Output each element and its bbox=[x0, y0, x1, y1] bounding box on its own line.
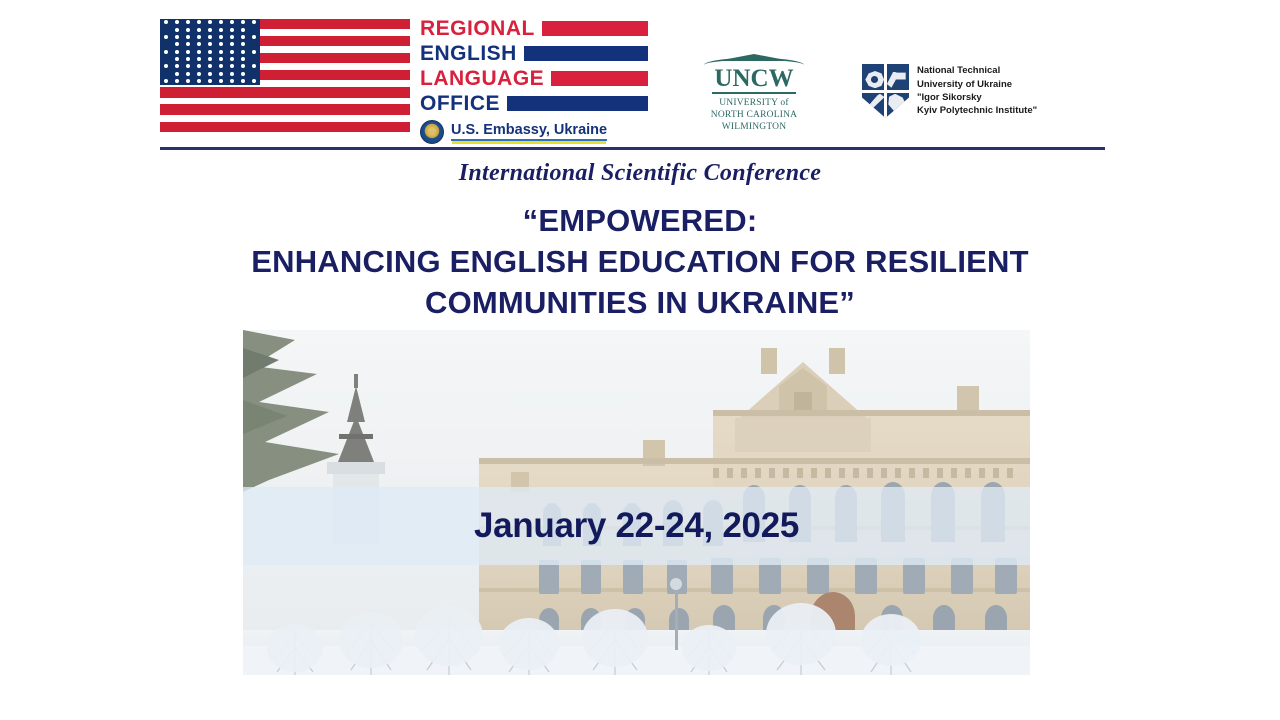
kpi-line-3: "Igor Sikorsky bbox=[917, 91, 1037, 104]
flag-stars bbox=[160, 19, 260, 85]
relo-bar-english bbox=[524, 46, 648, 61]
relo-word-english: ENGLISH bbox=[420, 43, 517, 64]
uncw-sub-line-2: NORTH CAROLINA bbox=[694, 109, 814, 121]
gear-icon bbox=[865, 71, 884, 88]
date-banner: January 22-24, 2025 bbox=[243, 487, 1030, 565]
kpi-logo: National Technical University of Ukraine… bbox=[862, 64, 1037, 118]
relo-bar-language bbox=[551, 71, 648, 86]
uncw-sub-line-1: UNIVERSITY of bbox=[694, 97, 814, 109]
kpi-line-2: University of Ukraine bbox=[917, 78, 1037, 91]
trident-icon bbox=[866, 94, 885, 111]
relo-line-language: LANGUAGE bbox=[420, 67, 648, 90]
mallet-icon bbox=[886, 94, 905, 111]
relo-word-regional: REGIONAL bbox=[420, 18, 535, 39]
uncw-wordmark: UNCW bbox=[712, 66, 795, 94]
conference-kicker: International Scientific Conference bbox=[0, 160, 1280, 187]
embassy-label: U.S. Embassy, Ukraine bbox=[451, 123, 607, 142]
title-line-3: COMMUNITIES IN UKRAINE” bbox=[150, 282, 1130, 323]
title-line-1: “EMPOWERED: bbox=[150, 200, 1130, 241]
relo-bar-regional bbox=[542, 21, 648, 36]
kpi-shield-icon bbox=[862, 64, 909, 118]
us-great-seal-icon bbox=[420, 120, 444, 144]
relo-line-regional: REGIONAL bbox=[420, 17, 648, 40]
page-title: “EMPOWERED: ENHANCING ENGLISH EDUCATION … bbox=[150, 200, 1130, 324]
relo-bar-office bbox=[507, 96, 648, 111]
header-divider bbox=[160, 147, 1105, 150]
portico-icon bbox=[704, 54, 804, 65]
conference-slide: REGIONAL ENGLISH LANGUAGE OFFICE bbox=[0, 0, 1280, 720]
axe-icon bbox=[887, 72, 906, 89]
relo-wordmark: REGIONAL ENGLISH LANGUAGE OFFICE bbox=[420, 16, 648, 144]
relo-word-language: LANGUAGE bbox=[420, 68, 544, 89]
embassy-row: U.S. Embassy, Ukraine bbox=[420, 120, 648, 144]
conference-date: January 22-24, 2025 bbox=[474, 506, 799, 546]
uncw-sub-line-3: WILMINGTON bbox=[694, 121, 814, 133]
relo-line-english: ENGLISH bbox=[420, 42, 648, 65]
kpi-wordmark: National Technical University of Ukraine… bbox=[917, 64, 1037, 118]
relo-line-office: OFFICE bbox=[420, 92, 648, 115]
logo-bar: REGIONAL ENGLISH LANGUAGE OFFICE bbox=[160, 16, 1110, 142]
relo-word-office: OFFICE bbox=[420, 93, 500, 114]
kpi-line-4: Kyiv Polytechnic Institute" bbox=[917, 104, 1037, 117]
uncw-logo: UNCW UNIVERSITY of NORTH CAROLINA WILMIN… bbox=[694, 54, 814, 133]
kpi-line-1: National Technical bbox=[917, 64, 1037, 77]
title-line-2: ENHANCING ENGLISH EDUCATION FOR RESILIEN… bbox=[150, 241, 1130, 282]
us-flag-icon bbox=[160, 16, 410, 136]
relo-logo: REGIONAL ENGLISH LANGUAGE OFFICE bbox=[160, 16, 650, 144]
